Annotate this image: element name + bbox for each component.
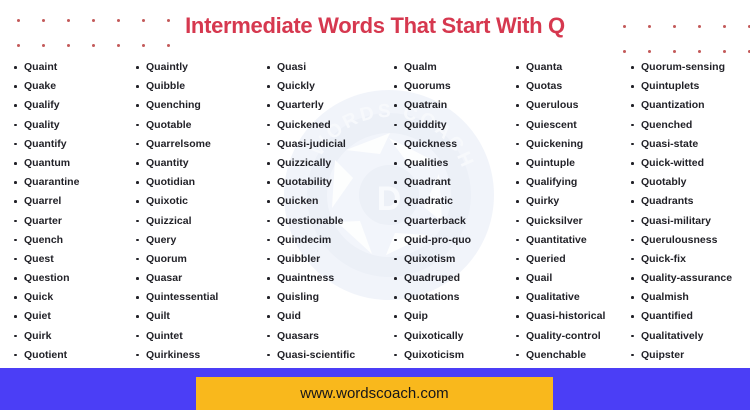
list-item: Quadratic [394,192,510,211]
word-column-6: Quorum-sensing Quintuplets Quantization … [626,52,750,368]
list-item: Quasi-scientific [267,346,386,365]
list-item: Querulous [516,96,626,115]
list-item: Quaintness [267,269,386,288]
list-item: Quiet [14,307,128,326]
list-item: Quintessential [136,288,258,307]
list-item: Qualmish [631,288,750,307]
list-item: Quasi [267,58,386,77]
list-item: Quixotic [136,192,258,211]
list-item: Quicksilver [516,212,626,231]
list-item: Quotable [136,116,258,135]
list-item: Quasi-military [631,212,750,231]
list-item: Quid [267,307,386,326]
list-item: Quindecim [267,231,386,250]
word-list-2: Quaintly Quibble Quenching Quotable Quar… [136,58,258,365]
list-item: Quid-pro-quo [394,231,510,250]
list-item: Quantization [631,96,750,115]
list-item: Quarrelsome [136,135,258,154]
list-item: Qualitatively [631,327,750,346]
list-item: Quake [14,77,128,96]
list-item: Quarterly [267,96,386,115]
list-item: Quotidian [136,173,258,192]
list-item: Queried [516,250,626,269]
list-item: Quisling [267,288,386,307]
list-item: Quixoticism [394,346,510,365]
word-column-5: Quanta Quotas Querulous Quiescent Quicke… [510,52,626,368]
list-item: Quaint [14,58,128,77]
list-item: Querulousness [631,231,750,250]
list-item: Quantified [631,307,750,326]
list-item: Quickly [267,77,386,96]
list-item: Qualify [14,96,128,115]
list-item: Question [14,269,128,288]
list-item: Quanta [516,58,626,77]
list-item: Quipster [631,346,750,365]
list-item: Quail [516,269,626,288]
list-item: Quaintly [136,58,258,77]
list-item: Quotient [14,346,128,365]
list-item: Quality-assurance [631,269,750,288]
list-item: Quilt [136,307,258,326]
list-item: Qualities [394,154,510,173]
word-list-4: Qualm Quorums Quatrain Quiddity Quicknes… [394,58,510,365]
list-item: Questionable [267,212,386,231]
list-item: Quenching [136,96,258,115]
list-item: Quirk [14,327,128,346]
list-item: Quarrel [14,192,128,211]
list-item: Quenchable [516,346,626,365]
list-item: Quibbler [267,250,386,269]
word-columns-board: Quaint Quake Qualify Quality Quantify Qu… [0,52,750,368]
list-item: Qualifying [516,173,626,192]
list-item: Quarterback [394,212,510,231]
list-item: Quadrants [631,192,750,211]
list-item: Quizzical [136,212,258,231]
list-item: Quick [14,288,128,307]
list-item: Quantify [14,135,128,154]
word-column-1: Quaint Quake Qualify Quality Quantify Qu… [0,52,128,368]
list-item: Qualitative [516,288,626,307]
list-item: Quintuple [516,154,626,173]
list-item: Quadruped [394,269,510,288]
list-item: Quickness [394,135,510,154]
list-item: Quasi-state [631,135,750,154]
list-item: Quantity [136,154,258,173]
list-item: Quotations [394,288,510,307]
list-item: Quirkiness [136,346,258,365]
list-item: Qualm [394,58,510,77]
list-item: Quiddity [394,116,510,135]
list-item: Quasi-judicial [267,135,386,154]
list-item: Quenched [631,116,750,135]
list-item: Quantitative [516,231,626,250]
list-item: Quotably [631,173,750,192]
list-item: Quest [14,250,128,269]
list-item: Quorum-sensing [631,58,750,77]
word-column-4: Qualm Quorums Quatrain Quiddity Quicknes… [386,52,510,368]
list-item: Quickened [267,116,386,135]
list-item: Quixotically [394,327,510,346]
list-item: Quotas [516,77,626,96]
word-column-2: Quaintly Quibble Quenching Quotable Quar… [128,52,258,368]
list-item: Quick-fix [631,250,750,269]
list-item: Quarantine [14,173,128,192]
list-item: Quorums [394,77,510,96]
list-item: Quasar [136,269,258,288]
list-item: Quasi-historical [516,307,626,326]
list-item: Quintuplets [631,77,750,96]
word-list-3: Quasi Quickly Quarterly Quickened Quasi-… [267,58,386,365]
list-item: Quality-control [516,327,626,346]
list-item: Query [136,231,258,250]
page-header: Intermediate Words That Start With Q [0,0,750,52]
website-badge[interactable]: www.wordscoach.com [196,377,553,410]
page-title: Intermediate Words That Start With Q [0,0,750,52]
word-list-6: Quorum-sensing Quintuplets Quantization … [631,58,750,365]
list-item: Quizzically [267,154,386,173]
word-column-3: Quasi Quickly Quarterly Quickened Quasi-… [258,52,386,368]
list-item: Quibble [136,77,258,96]
list-item: Quatrain [394,96,510,115]
list-item: Quip [394,307,510,326]
list-item: Quadrant [394,173,510,192]
list-item: Quarter [14,212,128,231]
list-item: Quicken [267,192,386,211]
list-item: Quintet [136,327,258,346]
list-item: Quality [14,116,128,135]
list-item: Quasars [267,327,386,346]
list-item: Quench [14,231,128,250]
list-item: Quiescent [516,116,626,135]
list-item: Quirky [516,192,626,211]
list-item: Quick-witted [631,154,750,173]
word-list-5: Quanta Quotas Querulous Quiescent Quicke… [516,58,626,365]
list-item: Quantum [14,154,128,173]
list-item: Quotability [267,173,386,192]
page-footer: www.wordscoach.com [0,368,750,410]
list-item: Quorum [136,250,258,269]
list-item: Quixotism [394,250,510,269]
word-list-1: Quaint Quake Qualify Quality Quantify Qu… [14,58,128,365]
list-item: Quickening [516,135,626,154]
